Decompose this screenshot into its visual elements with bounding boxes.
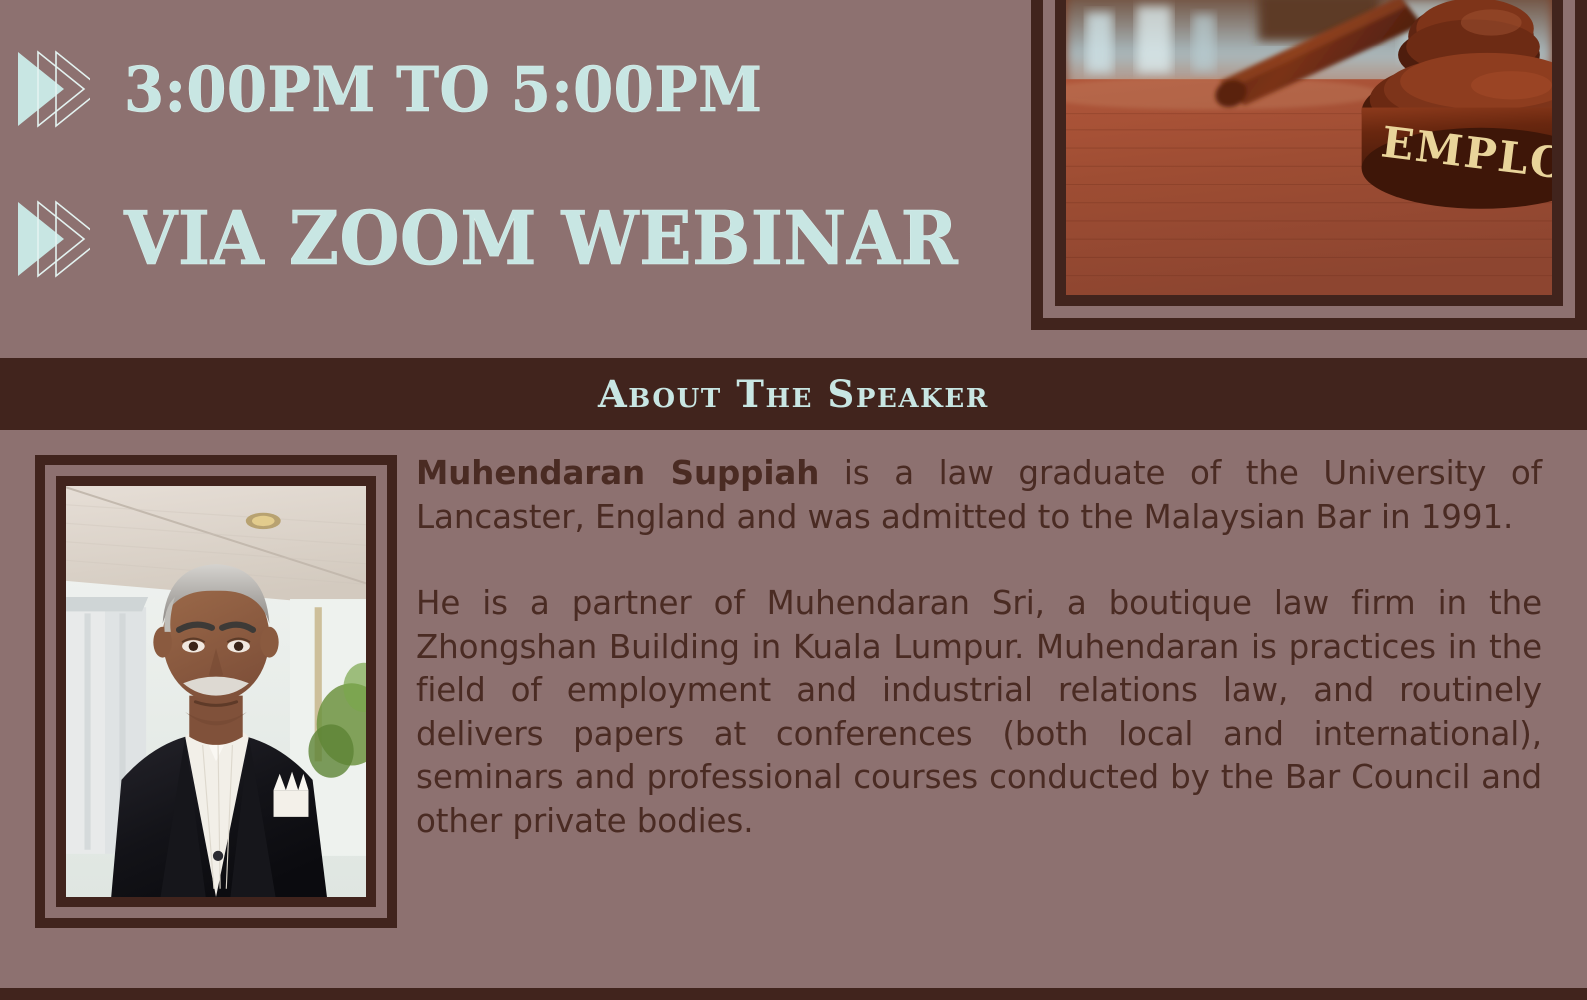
bio-paragraph-2: He is a partner of Muhendaran Sri, a bou… [416, 582, 1542, 843]
triple-arrow-icon [8, 46, 90, 132]
speaker-frame-gap [45, 465, 387, 918]
gavel-frame-gap: EMPLO [1043, 0, 1575, 318]
speaker-frame-inner-border [56, 476, 376, 907]
speaker-biography: Muhendaran Suppiah is a law graduate of … [416, 452, 1542, 843]
detail-time-text: 3:00PM TO 5:00PM [124, 53, 762, 126]
gavel-photo: EMPLO [1066, 0, 1552, 295]
speaker-name: Muhendaran Suppiah [416, 454, 819, 492]
banner-title: About The Speaker [598, 372, 989, 416]
bio-paragraph-1: Muhendaran Suppiah is a law graduate of … [416, 452, 1542, 539]
speaker-photo [66, 486, 366, 897]
detail-platform-text: VIA ZOOM WEBINAR [124, 196, 958, 282]
triple-arrow-icon [8, 196, 90, 282]
gavel-image-frame: EMPLO [1031, 0, 1587, 330]
speaker-portrait-illustration [66, 486, 366, 897]
bottom-accent-strip [0, 988, 1587, 1000]
bottom-section: Muhendaran Suppiah is a law graduate of … [0, 430, 1587, 988]
detail-line-time: 3:00PM TO 5:00PM [8, 46, 810, 132]
about-speaker-banner: About The Speaker [0, 358, 1587, 430]
speaker-photo-frame [35, 455, 397, 928]
gavel-illustration: EMPLO [1066, 0, 1552, 295]
gavel-frame-inner-border: EMPLO [1055, 0, 1563, 306]
detail-line-platform: VIA ZOOM WEBINAR [8, 196, 1021, 282]
top-section: 3:00PM TO 5:00PM VIA ZOOM WEBINAR [0, 0, 1587, 358]
